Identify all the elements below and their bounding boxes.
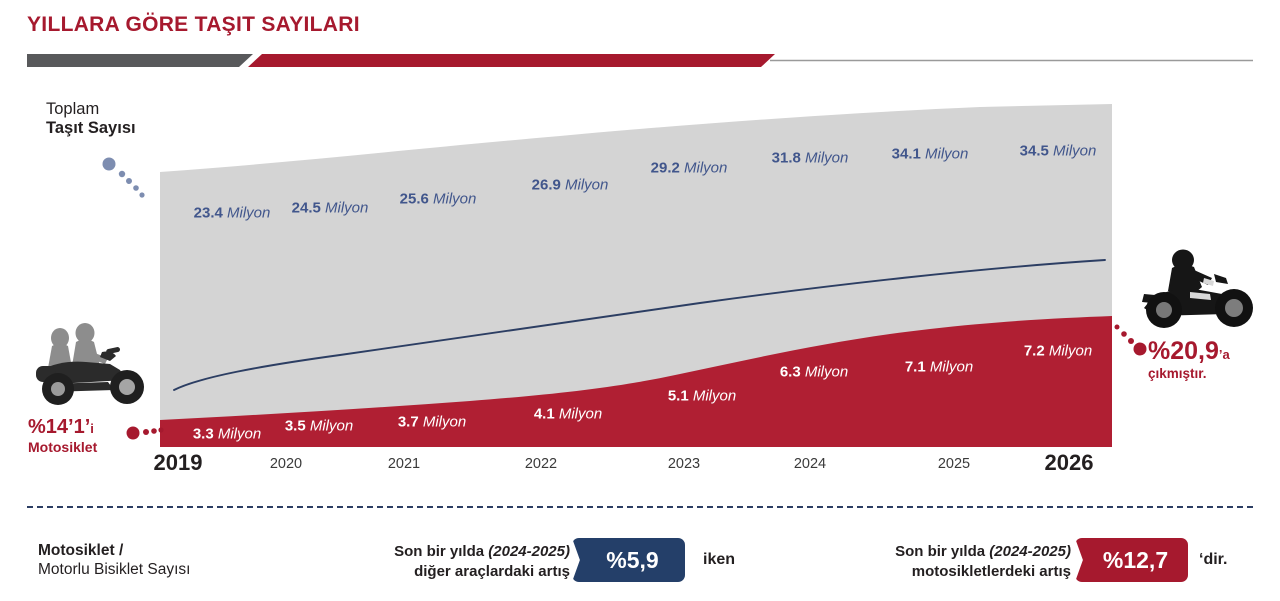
right-callout-percent-value: %20,9 <box>1148 337 1219 365</box>
left-callout-percent-suffix: i <box>90 421 94 436</box>
year-tick-2020: 2020 <box>270 456 302 472</box>
stat-motorcycles-text: Son bir yılda (2024-2025) motosikletlerd… <box>813 542 1071 581</box>
right-callout-subtitle: çıkmıştır. <box>1148 367 1230 382</box>
year-tick-2021: 2021 <box>388 456 420 472</box>
stat2-line1-years: (2024-2025) <box>989 543 1071 560</box>
right-callout-percent: %20,9’a <box>1148 338 1230 366</box>
right-callout-percent-suffix: ’a <box>1219 347 1230 362</box>
section-divider <box>27 506 1253 508</box>
page-title: YILLARA GÖRE TAŞIT SAYILARI <box>27 13 360 37</box>
stat2-line2: motosikletlerdeki artış <box>912 563 1071 580</box>
year-tick-2022: 2022 <box>525 456 557 472</box>
year-tick-2026: 2026 <box>1045 450 1094 476</box>
year-tick-2023: 2023 <box>668 456 700 472</box>
two-riders-motorcycle-image <box>28 322 158 410</box>
left-callout-percent-value: %14’1’ <box>28 416 90 438</box>
stat-motorcycles-suffix: ‘dir. <box>1199 551 1227 569</box>
left-callout-leader-dots <box>126 421 172 443</box>
header-rule <box>0 50 1280 70</box>
header-rule-gray-segment <box>27 54 253 67</box>
year-axis: 2019 2020 2021 2022 2023 2024 2025 2026 <box>0 448 1280 488</box>
single-rider-motorcycle-image <box>1138 248 1260 330</box>
year-tick-2025: 2025 <box>938 456 970 472</box>
header-rule-red-segment <box>248 54 775 67</box>
left-callout: %14’1’i Motosiklet <box>28 416 97 456</box>
left-callout-percent: %14’1’i <box>28 416 97 438</box>
year-tick-2024: 2024 <box>794 456 826 472</box>
stacked-area-chart: 23.4 Milyon 24.5 Milyon 25.6 Milyon 26.9… <box>0 90 1280 460</box>
left-callout-subtitle: Motosiklet <box>28 440 97 456</box>
infographic-page: YILLARA GÖRE TAŞIT SAYILARI Toplam Taşıt… <box>0 0 1280 601</box>
stat-motorcycles-badge[interactable]: %12,7 <box>1075 538 1188 582</box>
year-tick-2019: 2019 <box>154 450 203 476</box>
stat2-line1: Son bir yılda (2024-2025) <box>895 543 1071 560</box>
stat2-line1-plain: Son bir yılda <box>895 543 989 560</box>
right-callout: %20,9’a çıkmıştır. <box>1148 338 1230 381</box>
stat-motorcycles: Son bir yılda (2024-2025) motosikletlerd… <box>0 538 1280 586</box>
